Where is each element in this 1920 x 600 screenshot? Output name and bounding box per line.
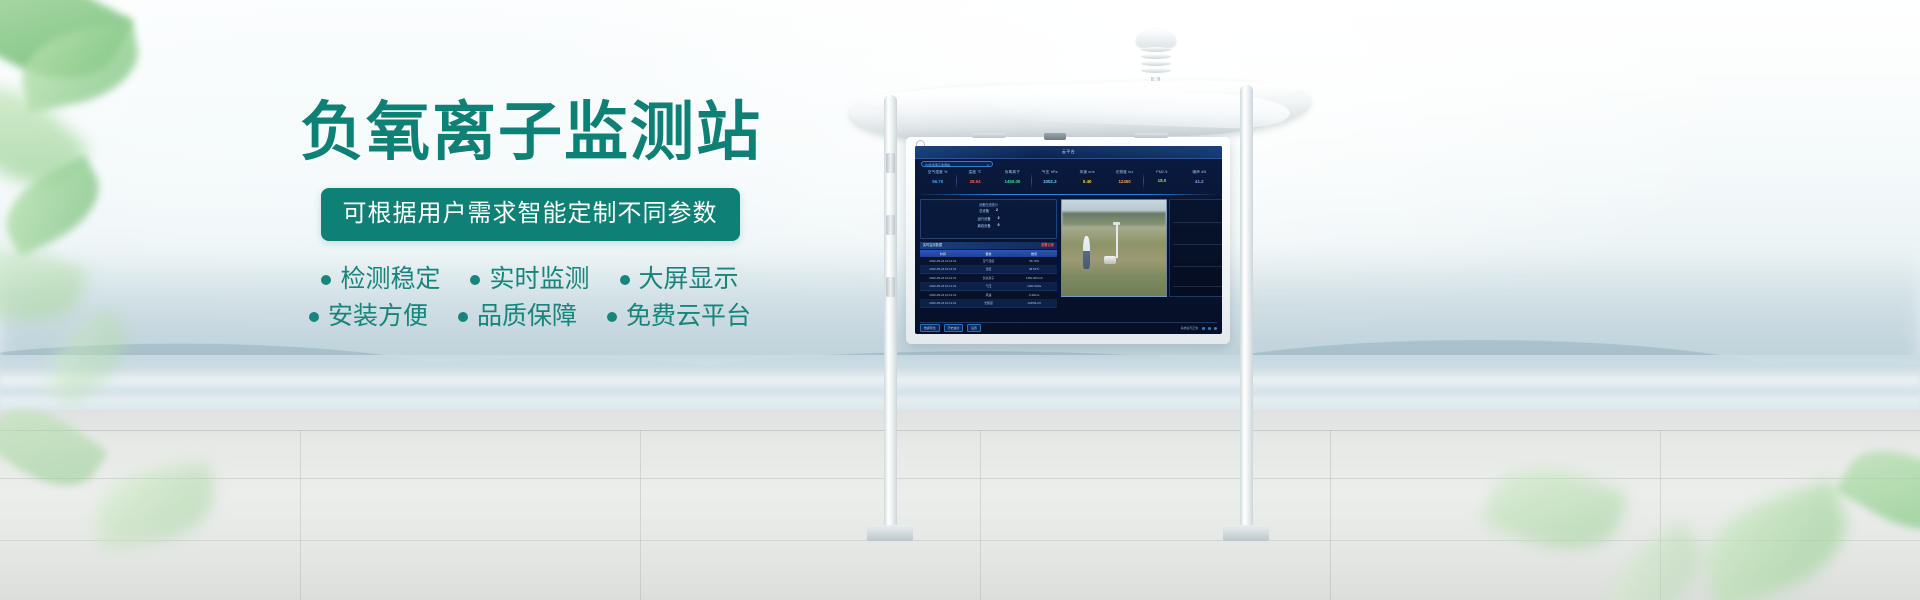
dashboard-screen[interactable]: 云平台 XX负氧离子监测站 ∨ 空气湿度 % 56.70 温度 ℃ 28.54 bbox=[915, 146, 1222, 334]
device-panel-title: 设备在线统计 bbox=[921, 202, 1056, 207]
alarm-panel-title: 实时监测数据 bbox=[923, 243, 942, 247]
device-stat-row: 总设备 2 bbox=[921, 208, 1056, 213]
screen-title: 云平台 bbox=[915, 149, 1222, 155]
panel-gridline bbox=[1173, 266, 1222, 267]
bullet-dot-icon bbox=[620, 275, 630, 285]
table-row[interactable]: 2022-05-23 10:14:31 温度 28.54℃ bbox=[920, 266, 1057, 275]
bezel-hook bbox=[1134, 133, 1168, 138]
feature-item: 大屏显示 bbox=[620, 267, 739, 292]
metric-label: 风速 m/s bbox=[1069, 170, 1106, 175]
panel-gridline bbox=[1173, 286, 1222, 287]
site-select-value: XX负氧离子监测站 bbox=[925, 163, 950, 167]
metric-label: 噪声 dB bbox=[1181, 170, 1218, 175]
screen-footer: 数据导出 历史曲线 设置 系统运行正常 bbox=[920, 322, 1217, 331]
support-post-right bbox=[1240, 85, 1253, 530]
table-cell-metric: 温度 bbox=[966, 267, 1012, 271]
metric-label: 光照度 lux bbox=[1106, 170, 1143, 175]
feature-row-1: 检测稳定 实时监测 大屏显示 bbox=[300, 267, 760, 292]
bullet-dot-icon bbox=[470, 275, 480, 285]
page-title: 负氧离子监测站 bbox=[300, 100, 760, 164]
table-row[interactable]: 2022-05-23 10:14:31 气压 1002.3hPa bbox=[920, 283, 1057, 292]
bezel-nub bbox=[1044, 133, 1066, 140]
feature-list: 检测稳定 实时监测 大屏显示 安装方便 品质保障 bbox=[300, 267, 760, 329]
metric-label: 气压 hPa bbox=[1031, 170, 1068, 175]
table-cell-time: 2022-05-23 10:14:31 bbox=[920, 284, 966, 288]
table-cell-metric: 空气湿度 bbox=[966, 259, 1012, 263]
metric-value: 1450.00 bbox=[994, 179, 1031, 184]
metric-value: 18.0 bbox=[1143, 178, 1180, 183]
device-stat-row: 运行设备 2 bbox=[921, 216, 1056, 221]
feature-item: 检测稳定 bbox=[321, 267, 440, 292]
device-stat-name: 离线设备 bbox=[977, 223, 990, 228]
bullet-dot-icon bbox=[458, 312, 468, 322]
hero-subtitle-pill: 可根据用户需求智能定制不同参数 bbox=[321, 188, 740, 241]
table-column-header: 数值 bbox=[1011, 252, 1057, 256]
sensor-cap bbox=[1136, 29, 1176, 47]
table-column-header: 要素 bbox=[966, 252, 1012, 256]
metric-card: 空气湿度 % 56.70 bbox=[919, 170, 956, 192]
table-cell-value: 56.70% bbox=[1011, 259, 1057, 263]
feature-label: 安装方便 bbox=[328, 304, 428, 329]
bullet-dot-icon bbox=[607, 312, 617, 322]
monitoring-station-kiosk: 云平台 XX负氧离子监测站 ∨ 空气湿度 % 56.70 温度 ℃ 28.54 bbox=[840, 25, 1320, 545]
feature-label: 免费云平台 bbox=[626, 304, 751, 329]
metric-value: 56.70 bbox=[919, 179, 956, 184]
post-hinge bbox=[886, 215, 895, 235]
feature-row-2: 安装方便 品质保障 免费云平台 bbox=[300, 304, 760, 329]
photo-sensor-pole bbox=[1116, 225, 1118, 258]
table-cell-time: 2022-05-23 10:14:31 bbox=[920, 276, 966, 280]
status-dots-icon bbox=[1202, 327, 1217, 330]
table-cell-time: 2022-05-23 10:14:31 bbox=[920, 259, 966, 263]
sensor-ring bbox=[1141, 68, 1171, 73]
table-cell-time: 2022-05-23 10:14:31 bbox=[920, 267, 966, 271]
section-divider bbox=[921, 194, 1216, 195]
sensor-ring bbox=[1141, 61, 1171, 66]
base-plate-left bbox=[867, 525, 913, 541]
table-cell-time: 2022-05-23 10:14:31 bbox=[920, 301, 966, 305]
bullet-dot-icon bbox=[309, 312, 319, 322]
photo-equipment bbox=[1104, 256, 1116, 265]
device-stat-value: 2 bbox=[998, 216, 1000, 221]
feature-label: 检测稳定 bbox=[340, 267, 440, 292]
metric-value: 0.40 bbox=[1069, 179, 1106, 184]
device-stat-name: 运行设备 bbox=[977, 216, 990, 221]
bullet-dot-icon bbox=[321, 275, 331, 285]
metric-card: 气压 hPa 1002.3 bbox=[1031, 170, 1068, 192]
metric-card: 风速 m/s 0.40 bbox=[1069, 170, 1106, 192]
system-status-text: 系统运行正常 bbox=[1181, 326, 1198, 330]
table-cell-metric: 气压 bbox=[966, 284, 1012, 288]
post-hinge bbox=[886, 277, 895, 297]
banner-stage: 负氧离子监测站 可根据用户需求智能定制不同参数 检测稳定 实时监测 大屏显示 bbox=[0, 0, 1920, 600]
hero-copy-block: 负氧离子监测站 可根据用户需求智能定制不同参数 检测稳定 实时监测 大屏显示 bbox=[300, 100, 760, 329]
table-cell-time: 2022-05-23 10:14:31 bbox=[920, 293, 966, 297]
feature-label: 大屏显示 bbox=[639, 267, 739, 292]
panel-gridline bbox=[1173, 244, 1222, 245]
display-bezel: 云平台 XX负氧离子监测站 ∨ 空气湿度 % 56.70 温度 ℃ 28.54 bbox=[906, 137, 1230, 344]
table-row[interactable]: 2022-05-23 10:14:31 风速 0.40m/s bbox=[920, 291, 1057, 300]
metric-label: 温度 ℃ bbox=[956, 170, 993, 175]
screen-header: 云平台 bbox=[915, 146, 1222, 159]
settings-button[interactable]: 设置 bbox=[967, 324, 981, 331]
bezel-hook bbox=[972, 133, 1006, 138]
table-cell-value: 28.54℃ bbox=[1011, 267, 1057, 271]
metric-card: 负氧离子 1450.00 bbox=[994, 170, 1031, 192]
feature-item: 品质保障 bbox=[458, 304, 577, 329]
metric-card: 噪声 dB 41.2 bbox=[1181, 170, 1218, 192]
history-chart-button[interactable]: 历史曲线 bbox=[944, 324, 964, 331]
chevron-down-icon: ∨ bbox=[987, 162, 989, 168]
sensor-ring bbox=[1141, 47, 1171, 52]
post-hinge bbox=[886, 153, 895, 173]
alarm-warn-label: 报警记录 bbox=[1041, 242, 1054, 249]
pavement-seam bbox=[1330, 430, 1331, 600]
table-cell-value: 1002.3hPa bbox=[1011, 284, 1057, 288]
base-plate-right bbox=[1223, 525, 1269, 541]
metric-label: PM2.5 bbox=[1143, 170, 1180, 174]
table-header-row: 时间 要素 数值 bbox=[920, 250, 1057, 257]
feature-label: 实时监测 bbox=[489, 267, 589, 292]
feature-item: 免费云平台 bbox=[607, 304, 751, 329]
metric-value: 41.2 bbox=[1181, 179, 1218, 184]
table-row[interactable]: 2022-05-23 10:14:31 光照度 12450LUX bbox=[920, 300, 1057, 309]
metric-value: 1002.3 bbox=[1031, 179, 1068, 184]
device-stat-value: 2 bbox=[996, 208, 998, 213]
table-cell-metric: 风速 bbox=[966, 293, 1012, 297]
device-status-panel: 设备在线统计 总设备 2 运行设备 2 离线设备 0 bbox=[920, 199, 1057, 239]
metric-value: 28.54 bbox=[956, 179, 993, 184]
panel-gridline bbox=[1173, 222, 1222, 223]
table-cell-value: 0.40m/s bbox=[1011, 293, 1057, 297]
device-stat-name: 总设备 bbox=[979, 208, 989, 213]
alarm-panel-title-bar: 实时监测数据 报警记录 bbox=[920, 242, 1057, 249]
table-row[interactable]: 2022-05-23 10:14:31 空气湿度 56.70% bbox=[920, 257, 1057, 266]
table-row[interactable]: 2022-05-23 10:14:31 负氧离子 1450.00/cm3 bbox=[920, 274, 1057, 283]
table-cell-metric: 负氧离子 bbox=[966, 276, 1012, 280]
pavement-seam bbox=[300, 430, 301, 600]
metric-value: 12450 bbox=[1106, 179, 1143, 184]
secondary-camera-panel[interactable]: LIVE bbox=[1169, 199, 1222, 297]
site-select-dropdown[interactable]: XX负氧离子监测站 ∨ bbox=[921, 161, 993, 167]
table-cell-metric: 光照度 bbox=[966, 301, 1012, 305]
feature-item: 实时监测 bbox=[470, 267, 589, 292]
table-cell-value: 12450LUX bbox=[1011, 301, 1057, 305]
table-cell-value: 1450.00/cm3 bbox=[1011, 276, 1057, 280]
sensor-ring bbox=[1141, 54, 1171, 59]
metric-cards-row: 空气湿度 % 56.70 温度 ℃ 28.54 负氧离子 1450.00 气压 … bbox=[919, 170, 1218, 192]
feature-label: 品质保障 bbox=[477, 304, 577, 329]
device-stat-row: 离线设备 0 bbox=[921, 223, 1056, 228]
metric-label: 空气湿度 % bbox=[919, 170, 956, 175]
pavement-seam bbox=[640, 430, 641, 600]
metric-card: 温度 ℃ 28.54 bbox=[956, 170, 993, 192]
photo-person bbox=[1083, 236, 1090, 269]
metric-card: PM2.5 18.0 bbox=[1143, 170, 1180, 192]
feature-item: 安装方便 bbox=[309, 304, 428, 329]
device-stat-value: 0 bbox=[998, 223, 1000, 228]
table-column-header: 时间 bbox=[920, 252, 966, 256]
metric-label: 负氧离子 bbox=[994, 170, 1031, 175]
camera-feed-image[interactable] bbox=[1061, 199, 1167, 297]
export-button[interactable]: 数据导出 bbox=[920, 324, 940, 331]
metric-card: 光照度 lux 12450 bbox=[1106, 170, 1143, 192]
